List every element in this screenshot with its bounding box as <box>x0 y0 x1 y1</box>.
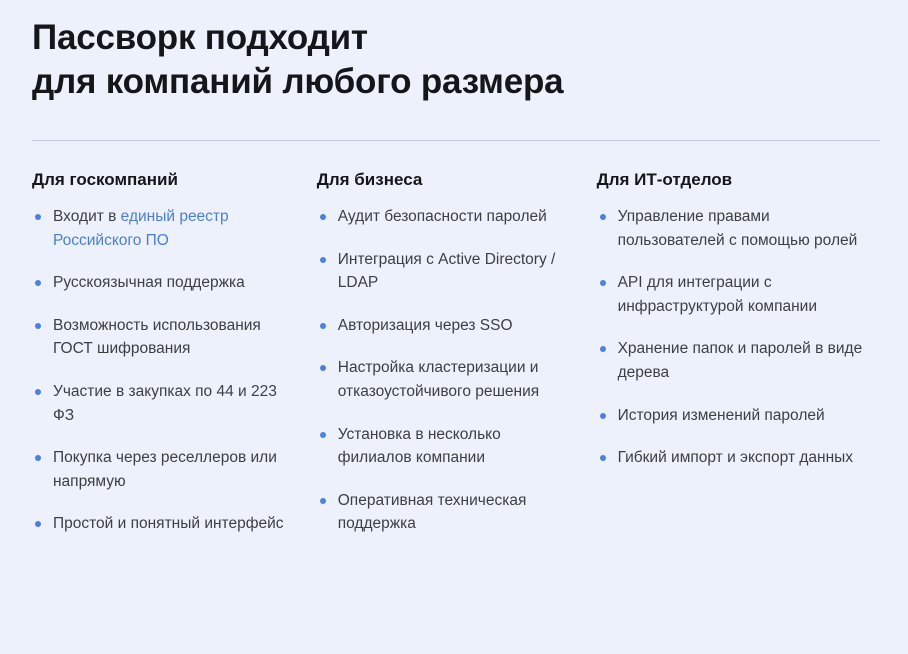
list-item-text: Авторизация через SSO <box>338 317 513 334</box>
list-item: Управление правами пользователей с помощ… <box>597 205 876 252</box>
benefits-column-biznes: Для бизнеса Аудит безопасности паролейИн… <box>317 169 597 536</box>
list-item-text: Входит в <box>53 208 121 225</box>
list-item: Хранение папок и паролей в виде дерева <box>597 337 876 384</box>
benefits-section: Пассворк подходит для компаний любого ра… <box>0 0 908 654</box>
list-item-text: API для интеграции с инфраструктурой ком… <box>618 274 817 315</box>
list-item: История изменений паролей <box>597 404 876 428</box>
list-item-text: Возможность использования ГОСТ шифровани… <box>53 317 261 358</box>
list-item-text: Участие в закупках по 44 и 223 ФЗ <box>53 383 277 424</box>
list-item-text: Хранение папок и паролей в виде дерева <box>618 340 863 381</box>
benefits-column-it-otdely: Для ИТ-отделов Управление правами пользо… <box>597 169 876 536</box>
bullet-dot-icon <box>35 455 41 461</box>
list-item: Входит в единый реестр Российского ПО <box>32 205 295 252</box>
bullet-dot-icon <box>320 498 326 504</box>
bullet-dot-icon <box>600 280 606 286</box>
bullet-dot-icon <box>320 323 326 329</box>
list-item: Оперативная техническая поддержка <box>317 489 575 536</box>
list-item-text: Гибкий импорт и экспорт данных <box>618 449 853 466</box>
list-item-text: Настройка кластеризации и отказоустойчив… <box>338 359 539 400</box>
list-item: API для интеграции с инфраструктурой ком… <box>597 271 876 318</box>
bullet-dot-icon <box>35 389 41 395</box>
bullet-dot-icon <box>35 323 41 329</box>
benefits-columns: Для госкомпаний Входит в единый реестр Р… <box>32 169 876 536</box>
bullet-dot-icon <box>600 413 606 419</box>
benefits-list: Аудит безопасности паролейИнтеграция с A… <box>317 205 575 535</box>
column-title: Для госкомпаний <box>32 169 295 191</box>
bullet-dot-icon <box>600 455 606 461</box>
list-item: Возможность использования ГОСТ шифровани… <box>32 314 295 361</box>
benefits-column-goskompanii: Для госкомпаний Входит в единый реестр Р… <box>32 169 317 536</box>
list-item: Интеграция с Active Directory / LDAP <box>317 248 575 295</box>
list-item-text: История изменений паролей <box>618 407 825 424</box>
list-item-text: Русскоязычная поддержка <box>53 274 245 291</box>
bullet-dot-icon <box>600 214 606 220</box>
section-divider <box>32 140 880 141</box>
list-item: Простой и понятный интерфейс <box>32 512 295 536</box>
list-item: Авторизация через SSO <box>317 314 575 338</box>
bullet-dot-icon <box>35 214 41 220</box>
list-item-text: Покупка через реселлеров или напрямую <box>53 449 277 490</box>
benefits-list: Входит в единый реестр Российского ПОРус… <box>32 205 295 535</box>
column-title: Для бизнеса <box>317 169 575 191</box>
list-item: Русскоязычная поддержка <box>32 271 295 295</box>
list-item-text: Установка в несколько филиалов компании <box>338 426 501 467</box>
page-title: Пассворк подходит для компаний любого ра… <box>32 0 876 104</box>
bullet-dot-icon <box>320 365 326 371</box>
bullet-dot-icon <box>320 257 326 263</box>
list-item: Покупка через реселлеров или напрямую <box>32 446 295 493</box>
list-item: Настройка кластеризации и отказоустойчив… <box>317 356 575 403</box>
list-item: Установка в несколько филиалов компании <box>317 423 575 470</box>
bullet-dot-icon <box>35 521 41 527</box>
list-item-text: Управление правами пользователей с помощ… <box>618 208 858 249</box>
bullet-dot-icon <box>600 346 606 352</box>
benefits-list: Управление правами пользователей с помощ… <box>597 205 876 469</box>
bullet-dot-icon <box>35 280 41 286</box>
bullet-dot-icon <box>320 432 326 438</box>
bullet-dot-icon <box>320 214 326 220</box>
list-item-text: Аудит безопасности паролей <box>338 208 547 225</box>
list-item: Гибкий импорт и экспорт данных <box>597 446 876 470</box>
column-title: Для ИТ-отделов <box>597 169 876 191</box>
list-item-text: Интеграция с Active Directory / LDAP <box>338 251 556 292</box>
list-item: Участие в закупках по 44 и 223 ФЗ <box>32 380 295 427</box>
list-item-text: Оперативная техническая поддержка <box>338 492 527 533</box>
list-item: Аудит безопасности паролей <box>317 205 575 229</box>
list-item-text: Простой и понятный интерфейс <box>53 515 284 532</box>
